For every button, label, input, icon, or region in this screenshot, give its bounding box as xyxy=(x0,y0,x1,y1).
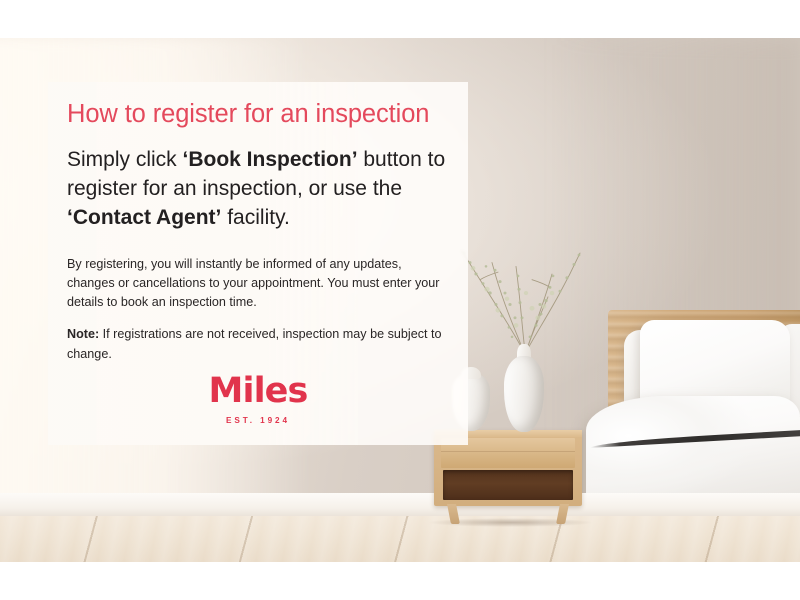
miles-logo: Miles EST. 1924 xyxy=(48,374,468,425)
note-label: Note: xyxy=(67,327,99,341)
floor-grain xyxy=(0,516,800,562)
info-panel: How to register for an inspection Simply… xyxy=(48,82,468,445)
nightstand-drawer-seam xyxy=(441,451,575,452)
large-vase xyxy=(504,356,544,432)
lede-line-3-post: facility. xyxy=(221,206,289,229)
nightstand-open-shelf xyxy=(443,470,573,500)
screenshot-canvas: How to register for an inspection Simply… xyxy=(0,0,800,600)
logo-established-line: EST. 1924 xyxy=(48,416,468,425)
logo-wordmark: Miles xyxy=(48,374,468,409)
wood-floor xyxy=(0,516,800,562)
page-title: How to register for an inspection xyxy=(67,100,446,128)
lede-paragraph: Simply click ‘Book Inspection’ button to… xyxy=(67,146,446,233)
lede-text-pre: Simply click xyxy=(67,148,183,171)
lede-text-post: button xyxy=(358,148,422,171)
contact-agent-label: ‘Contact Agent’ xyxy=(67,206,221,229)
note-text: If registrations are not received, inspe… xyxy=(67,327,442,360)
note-paragraph: Note: If registrations are not received,… xyxy=(67,325,446,363)
info-panel-content: How to register for an inspection Simply… xyxy=(48,82,468,364)
book-inspection-label: ‘Book Inspection’ xyxy=(183,148,358,171)
registering-info-paragraph: By registering, you will instantly be in… xyxy=(67,255,446,312)
